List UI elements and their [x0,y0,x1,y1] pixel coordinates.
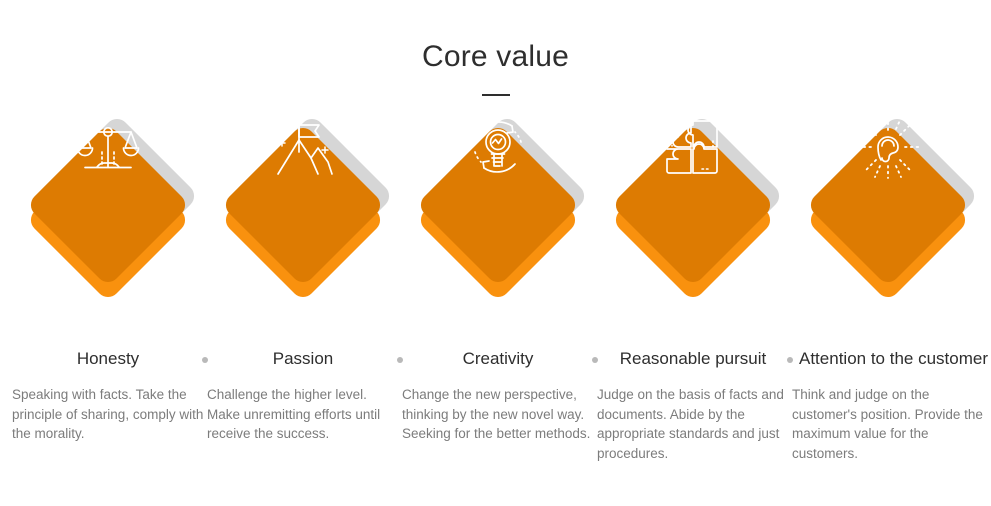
value-description: Think and judge on the customer's positi… [790,385,986,463]
page-header: Core value [0,38,991,96]
value-text-creativity: Creativity Change the new perspective, t… [400,348,596,444]
value-card-creativity[interactable] [400,133,596,363]
value-description: Change the new perspective, thinking by … [400,385,596,444]
core-value-text-blocks: Honesty Speaking with facts. Take the pr… [0,348,991,478]
value-title: Reasonable pursuit [595,348,791,370]
value-card-honesty[interactable] [10,133,206,363]
value-text-passion: Passion Challenge the higher level. Make… [205,348,401,444]
value-description: Judge on the basis of facts and document… [595,385,791,463]
mountain-flag-icon [266,110,340,184]
value-text-honesty: Honesty Speaking with facts. Take the pr… [10,348,206,444]
balance-scale-icon [71,110,145,184]
value-description: Challenge the higher level. Make unremit… [205,385,401,444]
lightbulb-refresh-icon [461,110,535,184]
value-card-reasonable-pursuit[interactable] [595,133,791,363]
puzzle-pieces-icon [656,110,730,184]
value-title: Honesty [10,348,206,370]
value-card-passion[interactable] [205,133,401,363]
value-card-attention-to-customer[interactable] [790,133,986,363]
page-title: Core value [0,38,991,76]
value-title: Passion [205,348,401,370]
value-description: Speaking with facts. Take the principle … [10,385,206,444]
value-text-reasonable-pursuit: Reasonable pursuit Judge on the basis of… [595,348,791,463]
core-value-diamonds [0,133,991,363]
value-title: Attention to the customer [799,348,986,370]
value-title: Creativity [400,348,596,370]
ear-listening-icon [851,110,925,184]
title-divider [482,94,510,96]
value-text-attention-to-customer: Attention to the customer Think and judg… [790,348,986,463]
